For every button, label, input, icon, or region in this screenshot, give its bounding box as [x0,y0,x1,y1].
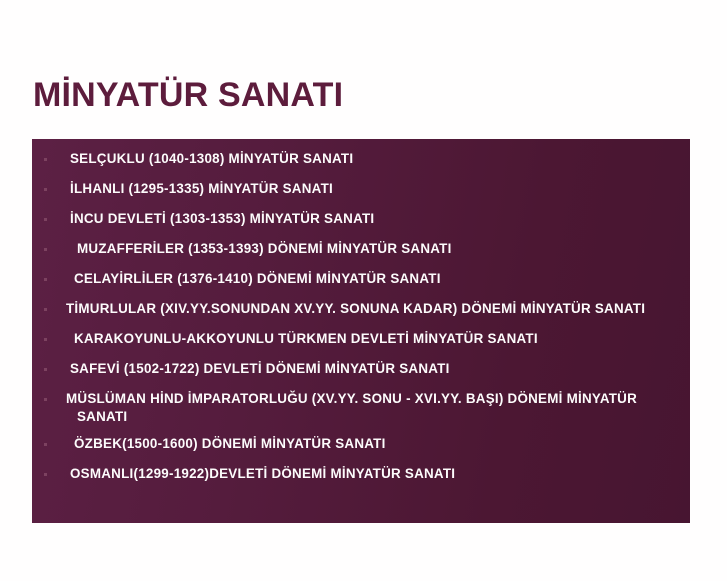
list-item[interactable]: İNCU DEVLETİ (1303-1353) MİNYATÜR SANATI [32,210,690,230]
list-item-label: KARAKOYUNLU-AKKOYUNLU TÜRKMEN DEVLETİ Mİ… [70,330,676,348]
list-item-label: TİMURLULAR (XIV.YY.SONUNDAN XV.YY. SONUN… [66,300,676,318]
list-item[interactable]: MÜSLÜMAN HİND İMPARATORLUĞU (XV.YY. SONU… [32,390,690,425]
bullet-dot-icon [44,218,47,221]
list-item-label: İNCU DEVLETİ (1303-1353) MİNYATÜR SANATI [70,210,676,228]
bullet-dot-icon [44,368,47,371]
list-item[interactable]: İLHANLI (1295-1335) MİNYATÜR SANATI [32,180,690,200]
list-item[interactable]: MUZAFFERİLER (1353-1393) DÖNEMİ MİNYATÜR… [32,240,690,260]
page-title: MİNYATÜR SANATI [33,78,343,114]
bullet-dot-icon [44,308,47,311]
list-item[interactable]: TİMURLULAR (XIV.YY.SONUNDAN XV.YY. SONUN… [32,300,690,320]
list-item[interactable]: KARAKOYUNLU-AKKOYUNLU TÜRKMEN DEVLETİ Mİ… [32,330,690,350]
list-item[interactable]: SAFEVİ (1502-1722) DEVLETİ DÖNEMİ MİNYAT… [32,360,690,380]
slide-canvas: MİNYATÜR SANATI SELÇUKLU (1040-1308) MİN… [0,0,727,581]
list-item[interactable]: SELÇUKLU (1040-1308) MİNYATÜR SANATI [32,150,690,170]
list-item[interactable]: OSMANLI(1299-1922)DEVLETİ DÖNEMİ MİNYATÜ… [32,465,690,485]
bullet-dot-icon [44,158,47,161]
bullet-dot-icon [44,473,47,476]
list-item-label: MUZAFFERİLER (1353-1393) DÖNEMİ MİNYATÜR… [70,240,676,258]
bullet-list: SELÇUKLU (1040-1308) MİNYATÜR SANATI İLH… [32,139,690,485]
bullet-dot-icon [44,338,47,341]
bullet-dot-icon [44,188,47,191]
bullet-dot-icon [44,398,47,401]
list-item-label: ÖZBEK(1500-1600) DÖNEMİ MİNYATÜR SANATI [70,435,676,453]
bullet-dot-icon [44,248,47,251]
list-item-label: CELAYİRLİLER (1376-1410) DÖNEMİ MİNYATÜR… [70,270,676,288]
list-item-label: İLHANLI (1295-1335) MİNYATÜR SANATI [70,180,676,198]
list-item-label: MÜSLÜMAN HİND İMPARATORLUĞU (XV.YY. SONU… [66,390,676,425]
bullet-dot-icon [44,443,47,446]
list-item-label: SAFEVİ (1502-1722) DEVLETİ DÖNEMİ MİNYAT… [70,360,676,378]
content-panel: SELÇUKLU (1040-1308) MİNYATÜR SANATI İLH… [32,139,690,523]
list-item[interactable]: CELAYİRLİLER (1376-1410) DÖNEMİ MİNYATÜR… [32,270,690,290]
bullet-dot-icon [44,278,47,281]
list-item[interactable]: ÖZBEK(1500-1600) DÖNEMİ MİNYATÜR SANATI [32,435,690,455]
list-item-label: OSMANLI(1299-1922)DEVLETİ DÖNEMİ MİNYATÜ… [70,465,676,483]
list-item-label: SELÇUKLU (1040-1308) MİNYATÜR SANATI [70,150,676,168]
